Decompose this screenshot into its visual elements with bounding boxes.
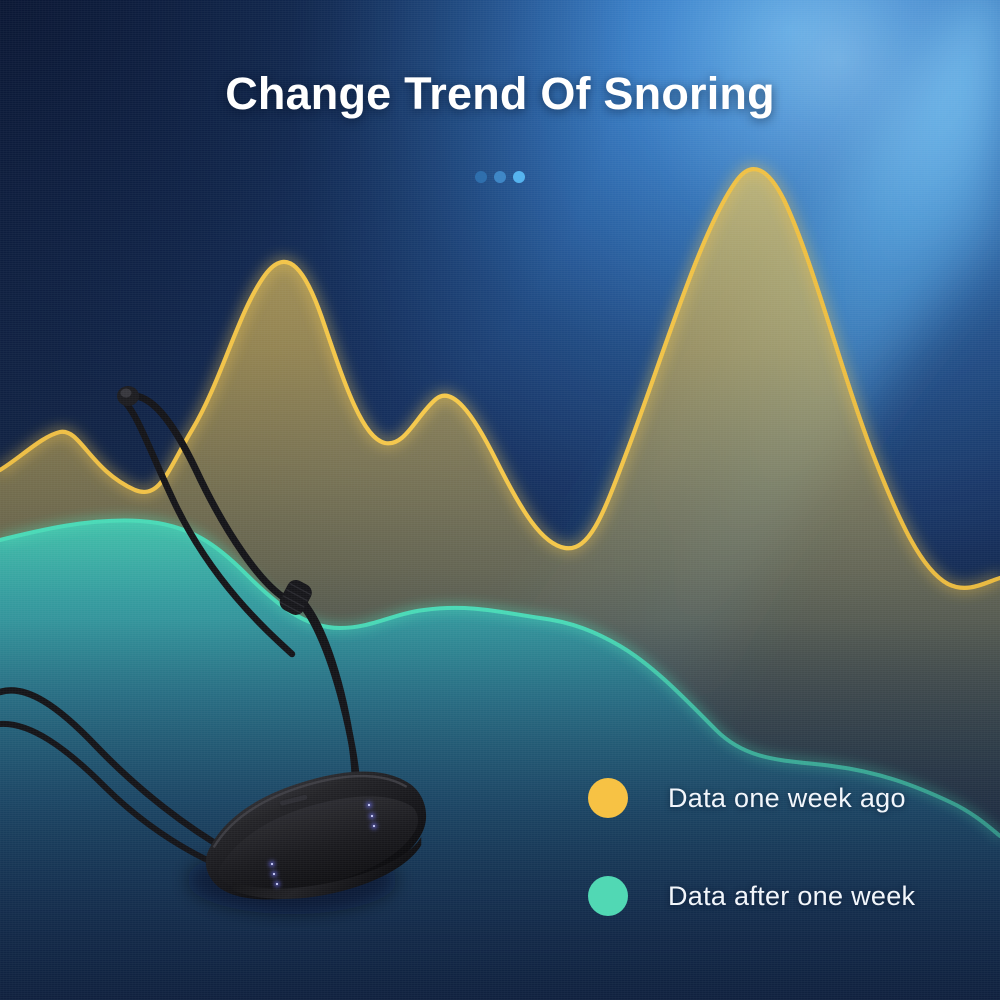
dot-3-icon — [513, 171, 525, 183]
poster-canvas: Change Trend Of Snoring Data one week ag… — [0, 0, 1000, 1000]
legend-label-before: Data one week ago — [668, 783, 906, 814]
chart-legend: Data one week ago Data after one week — [588, 778, 915, 916]
dot-2-icon — [494, 171, 506, 183]
legend-item-before[interactable]: Data one week ago — [588, 778, 915, 818]
legend-label-after: Data after one week — [668, 881, 915, 912]
legend-swatch-after-icon — [588, 876, 628, 916]
legend-item-after[interactable]: Data after one week — [588, 876, 915, 916]
page-title: Change Trend Of Snoring — [0, 68, 1000, 120]
dot-decoration — [0, 171, 1000, 183]
dot-1-icon — [475, 171, 487, 183]
legend-swatch-before-icon — [588, 778, 628, 818]
